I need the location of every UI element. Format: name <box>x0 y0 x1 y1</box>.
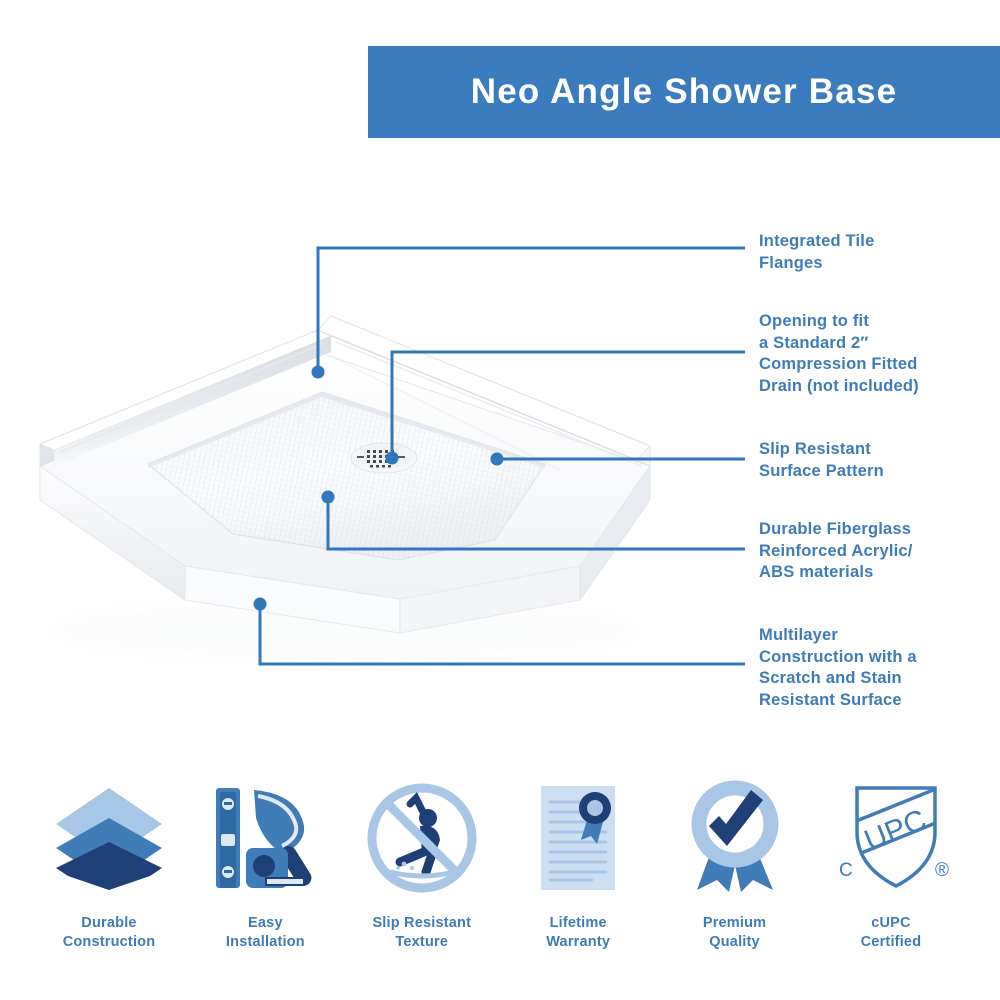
feature-label: Lifetime Warranty <box>546 914 610 952</box>
award-ribbon-check-icon <box>675 778 795 898</box>
leader-dot-slip-surface <box>491 453 504 466</box>
feature-label: Premium Quality <box>703 914 766 952</box>
certificate-rosette-icon <box>518 778 638 898</box>
leader-dot-drain <box>386 452 399 465</box>
upc-band-text: UPC <box>860 803 931 857</box>
cupc-right-mark: ® <box>935 860 949 881</box>
leader-line-materials <box>328 497 745 549</box>
level-trowel-tape-icon <box>205 778 325 898</box>
feature-durable-construction: Durable Construction <box>34 778 184 952</box>
feature-icon-row: Durable Construction <box>0 778 1000 978</box>
leader-line-multilayer <box>260 604 745 664</box>
feature-easy-installation: Easy Installation <box>190 778 340 952</box>
feature-premium-quality: Premium Quality <box>660 778 810 952</box>
feature-label: Durable Construction <box>63 914 156 952</box>
page-title: Neo Angle Shower Base <box>471 72 898 112</box>
leader-line-drain <box>392 352 745 458</box>
feature-label: Slip Resistant Texture <box>372 914 471 952</box>
infographic-canvas: Neo Angle Shower Base Integrated Tile Fl… <box>0 0 1000 1000</box>
callout-drain-opening: Opening to fit a Standard 2″ Compression… <box>759 311 919 397</box>
callout-multilayer-construction: Multilayer Construction with a Scratch a… <box>759 625 917 711</box>
feature-lifetime-warranty: Lifetime Warranty <box>503 778 653 952</box>
stacked-layers-icon <box>49 778 169 898</box>
upc-shield-icon: UPC C ® <box>831 778 951 898</box>
leader-dot-multilayer <box>254 598 267 611</box>
cupc-left-mark: C <box>839 860 853 881</box>
callout-integrated-tile-flanges: Integrated Tile Flanges <box>759 231 874 274</box>
leader-dot-tile-flanges <box>312 366 325 379</box>
feature-cupc-certified: UPC C ® cUPC Certified <box>816 778 966 952</box>
leader-dot-materials <box>322 491 335 504</box>
callout-slip-resistant-surface: Slip Resistant Surface Pattern <box>759 439 884 482</box>
title-banner: Neo Angle Shower Base <box>368 46 1000 138</box>
callout-durable-materials: Durable Fiberglass Reinforced Acrylic/ A… <box>759 519 913 584</box>
feature-slip-resistant-texture: Slip Resistant Texture <box>347 778 497 952</box>
feature-label: cUPC Certified <box>861 914 922 952</box>
no-slip-prohibition-icon <box>362 778 482 898</box>
feature-label: Easy Installation <box>226 914 305 952</box>
